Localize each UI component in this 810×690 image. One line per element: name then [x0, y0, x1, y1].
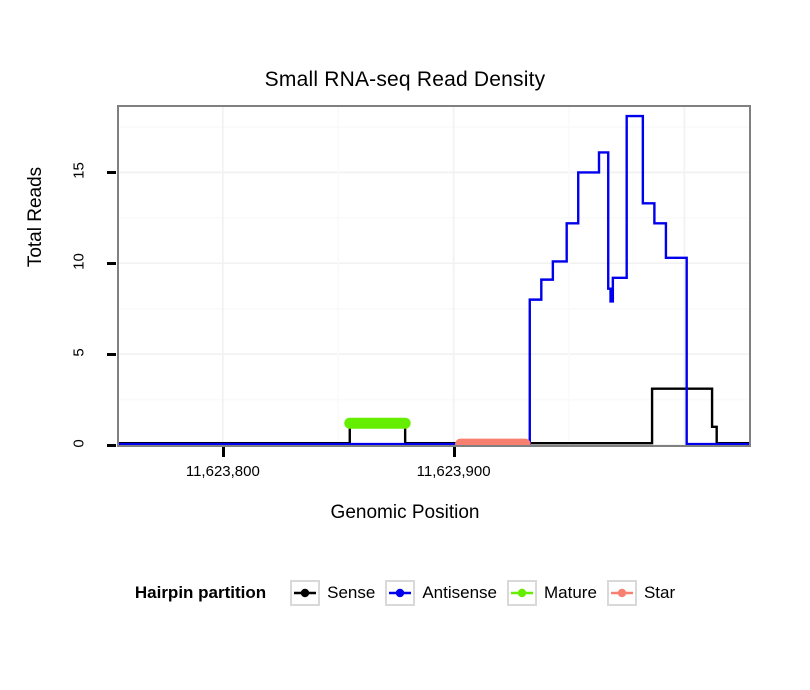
legend-symbol-icon	[510, 583, 534, 603]
legend-dot	[301, 589, 309, 597]
series-antisense-line	[119, 116, 749, 444]
y-tick-mark	[107, 171, 116, 174]
y-tick-mark	[107, 444, 116, 447]
legend: Hairpin partition SenseAntisenseMatureSt…	[0, 580, 810, 606]
legend-symbol-icon	[293, 583, 317, 603]
chart-title: Small RNA-seq Read Density	[0, 68, 810, 92]
legend-key-mature	[507, 580, 537, 606]
x-tick-label: 11,623,900	[384, 463, 524, 480]
y-tick-mark	[107, 353, 116, 356]
legend-entry-antisense[interactable]: Antisense	[385, 580, 497, 606]
legend-key-antisense	[385, 580, 415, 606]
x-tick-mark	[453, 447, 456, 457]
y-tick-label: 10	[71, 242, 88, 282]
legend-title: Hairpin partition	[135, 583, 266, 603]
legend-symbol-icon	[388, 583, 412, 603]
legend-label: Star	[644, 583, 675, 603]
legend-dot	[396, 589, 404, 597]
legend-dot	[618, 589, 626, 597]
gridlines	[119, 107, 749, 445]
legend-label: Antisense	[422, 583, 497, 603]
x-axis-title: Genomic Position	[0, 502, 810, 524]
y-tick-label: 0	[71, 424, 88, 464]
legend-dot	[518, 589, 526, 597]
chart-root: Small RNA-seq Read Density Total Reads 0…	[0, 0, 810, 690]
x-tick-label: 11,623,800	[153, 463, 293, 480]
legend-symbol-icon	[610, 583, 634, 603]
plot-area	[119, 107, 749, 445]
legend-entry-star[interactable]: Star	[607, 580, 675, 606]
plot-panel	[117, 105, 751, 447]
legend-label: Sense	[327, 583, 375, 603]
legend-entries: SenseAntisenseMatureStar	[290, 580, 675, 606]
legend-key-sense	[290, 580, 320, 606]
y-tick-label: 15	[71, 151, 88, 191]
legend-label: Mature	[544, 583, 597, 603]
legend-entry-sense[interactable]: Sense	[290, 580, 375, 606]
y-axis-title: Total Reads	[25, 137, 47, 297]
x-tick-mark	[222, 447, 225, 457]
legend-entry-mature[interactable]: Mature	[507, 580, 597, 606]
y-tick-label: 5	[71, 333, 88, 373]
y-tick-mark	[107, 262, 116, 265]
series-sense-line	[119, 389, 749, 444]
legend-key-star	[607, 580, 637, 606]
